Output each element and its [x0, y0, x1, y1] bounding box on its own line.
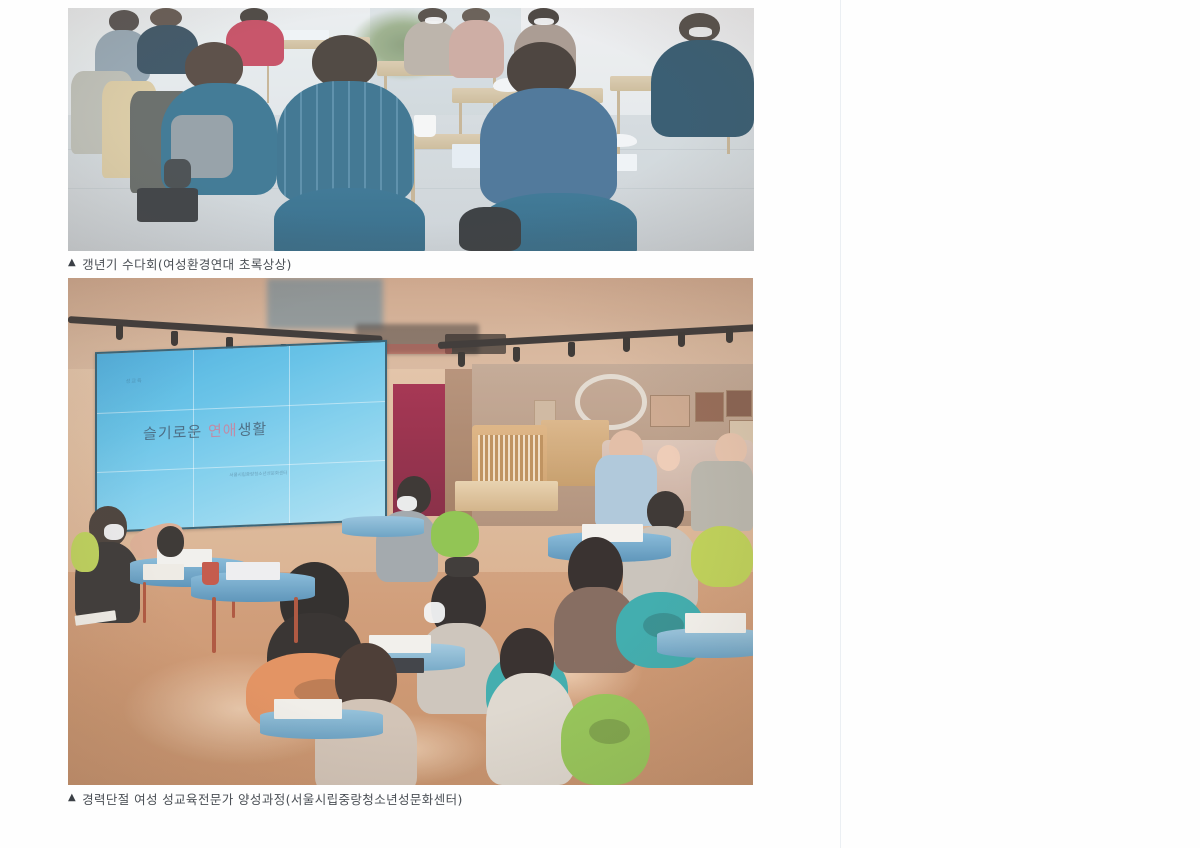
slide-footer: 서울시립중랑청소년성문화센터: [230, 471, 288, 479]
photo-sex-education-training: 성교육 슬기로운 연애생활 서울시립중랑청소년성문화센터: [68, 278, 753, 785]
caption-triangle-icon: ▲: [68, 258, 76, 268]
scan-seam-line: [840, 0, 841, 848]
slide-tag: 성교육: [126, 377, 143, 385]
caption-text: 갱년기 수다회(여성환경연대 초록상상): [82, 254, 292, 273]
scanned-document-page: ▲ 갱년기 수다회(여성환경연대 초록상상): [0, 0, 1200, 848]
caption-triangle-icon: ▲: [68, 793, 76, 803]
photo2-video-wall: 성교육 슬기로운 연애생활 서울시립중랑청소년성문화센터: [95, 340, 387, 534]
caption-text: 경력단절 여성 성교육전문가 양성과정(서울시립중랑청소년성문화센터): [82, 789, 463, 808]
slide-title: 슬기로운 연애생활: [143, 418, 267, 444]
figure-caption-2: ▲ 경력단절 여성 성교육전문가 양성과정(서울시립중랑청소년성문화센터): [68, 789, 463, 808]
figure-caption-1: ▲ 갱년기 수다회(여성환경연대 초록상상): [68, 254, 292, 273]
photo-menopause-talk: [68, 8, 754, 251]
